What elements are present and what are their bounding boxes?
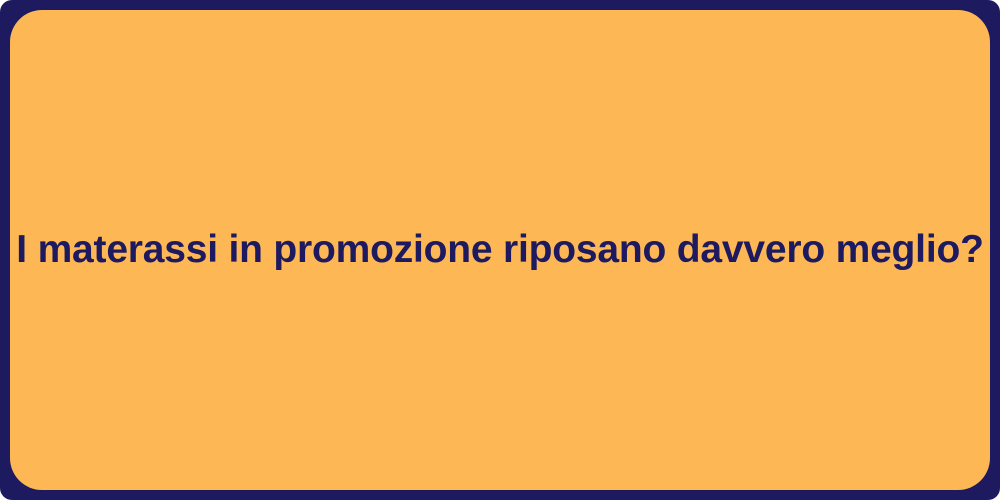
banner-card: I materassi in promozione riposano davve… [10, 10, 990, 490]
banner-frame: I materassi in promozione riposano davve… [0, 0, 1000, 500]
banner-headline: I materassi in promozione riposano davve… [16, 225, 983, 276]
